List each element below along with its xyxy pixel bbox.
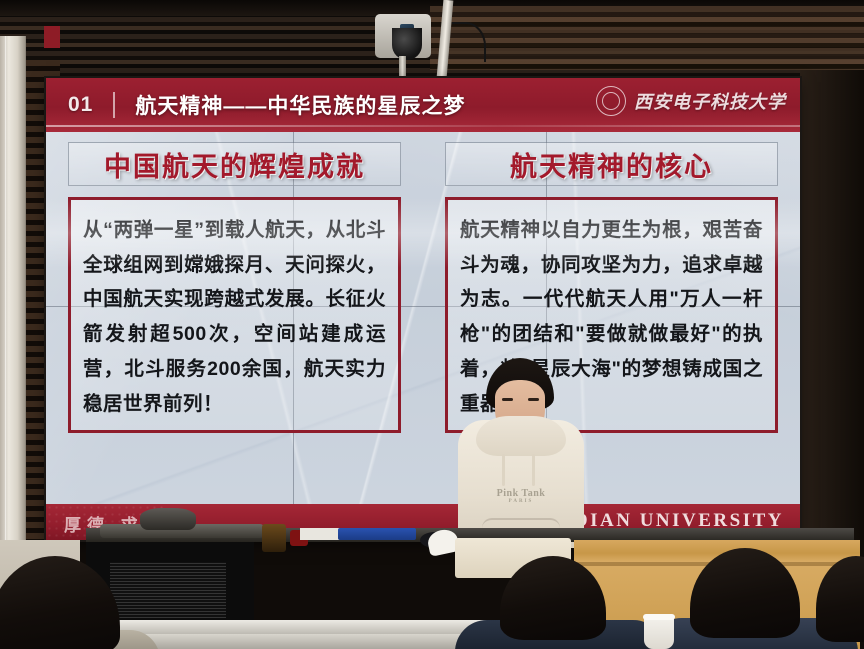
presenter-eye-right [528, 398, 539, 401]
presenter-hood [476, 416, 566, 456]
slide-title: 航天精神——中华民族的星辰之梦 [135, 90, 465, 120]
monitor-stand [140, 508, 196, 530]
camera-pole [399, 56, 406, 80]
hoodie-graphic: Pink Tank PARIS [478, 484, 564, 508]
room-pillar [0, 36, 26, 611]
presentation-screen[interactable]: 01 航天精神——中华民族的星辰之梦 西安电子科技大学 中国航天的辉煌成就 从“… [46, 78, 800, 540]
header-divider [113, 92, 115, 118]
presenter-eye-left [502, 398, 513, 401]
slide-content-panels: 中国航天的辉煌成就 从“两弹一星”到载人航天，从北斗全球组网到嫦娥探月、天问探火… [46, 132, 800, 482]
av-rack-mesh-panel [110, 562, 226, 618]
right-wall [800, 70, 864, 540]
university-logo-text: 西安电子科技大学 [634, 88, 786, 114]
ceiling-wood-slats [430, 6, 864, 70]
panel-body-box: 从“两弹一星”到载人航天，从北斗全球组网到嫦娥探月、天问探火，中国航天实现跨越式… [68, 197, 401, 433]
hoodie-graphic-text: Pink Tank [497, 488, 546, 499]
blue-device [338, 528, 416, 540]
wall-red-fixture [44, 26, 60, 48]
xidian-emblem-icon [596, 86, 626, 116]
hoodie-drawstring-right [532, 454, 535, 486]
lecture-hall-scene: 01 航天精神——中华民族的星辰之梦 西安电子科技大学 中国航天的辉煌成就 从“… [0, 0, 864, 649]
panel-achievements: 中国航天的辉煌成就 从“两弹一星”到载人航天，从北斗全球组网到嫦娥探月、天问探火… [46, 132, 423, 482]
panel-title-text: 航天精神的核心 [510, 145, 713, 184]
panel-title-frame: 中国航天的辉煌成就 [68, 142, 401, 186]
av-device-brown [262, 524, 286, 552]
camera-dome [392, 28, 422, 60]
presenter-person: Pink Tank PARIS [440, 358, 600, 548]
university-logo: 西安电子科技大学 [596, 86, 786, 116]
paper-cup [644, 614, 674, 649]
hoodie-drawstring-left [502, 454, 505, 486]
hoodie-graphic-subtext: PARIS [509, 499, 534, 504]
panel-title-frame: 航天精神的核心 [445, 142, 778, 186]
slide-header-bar: 01 航天精神——中华民族的星辰之梦 西安电子科技大学 [46, 78, 800, 132]
panel-title-text: 中国航天的辉煌成就 [104, 145, 365, 184]
panel-body-text: 从“两弹一星”到载人航天，从北斗全球组网到嫦娥探月、天问探火，中国航天实现跨越式… [83, 213, 386, 421]
slide-section-number: 01 [68, 93, 93, 117]
